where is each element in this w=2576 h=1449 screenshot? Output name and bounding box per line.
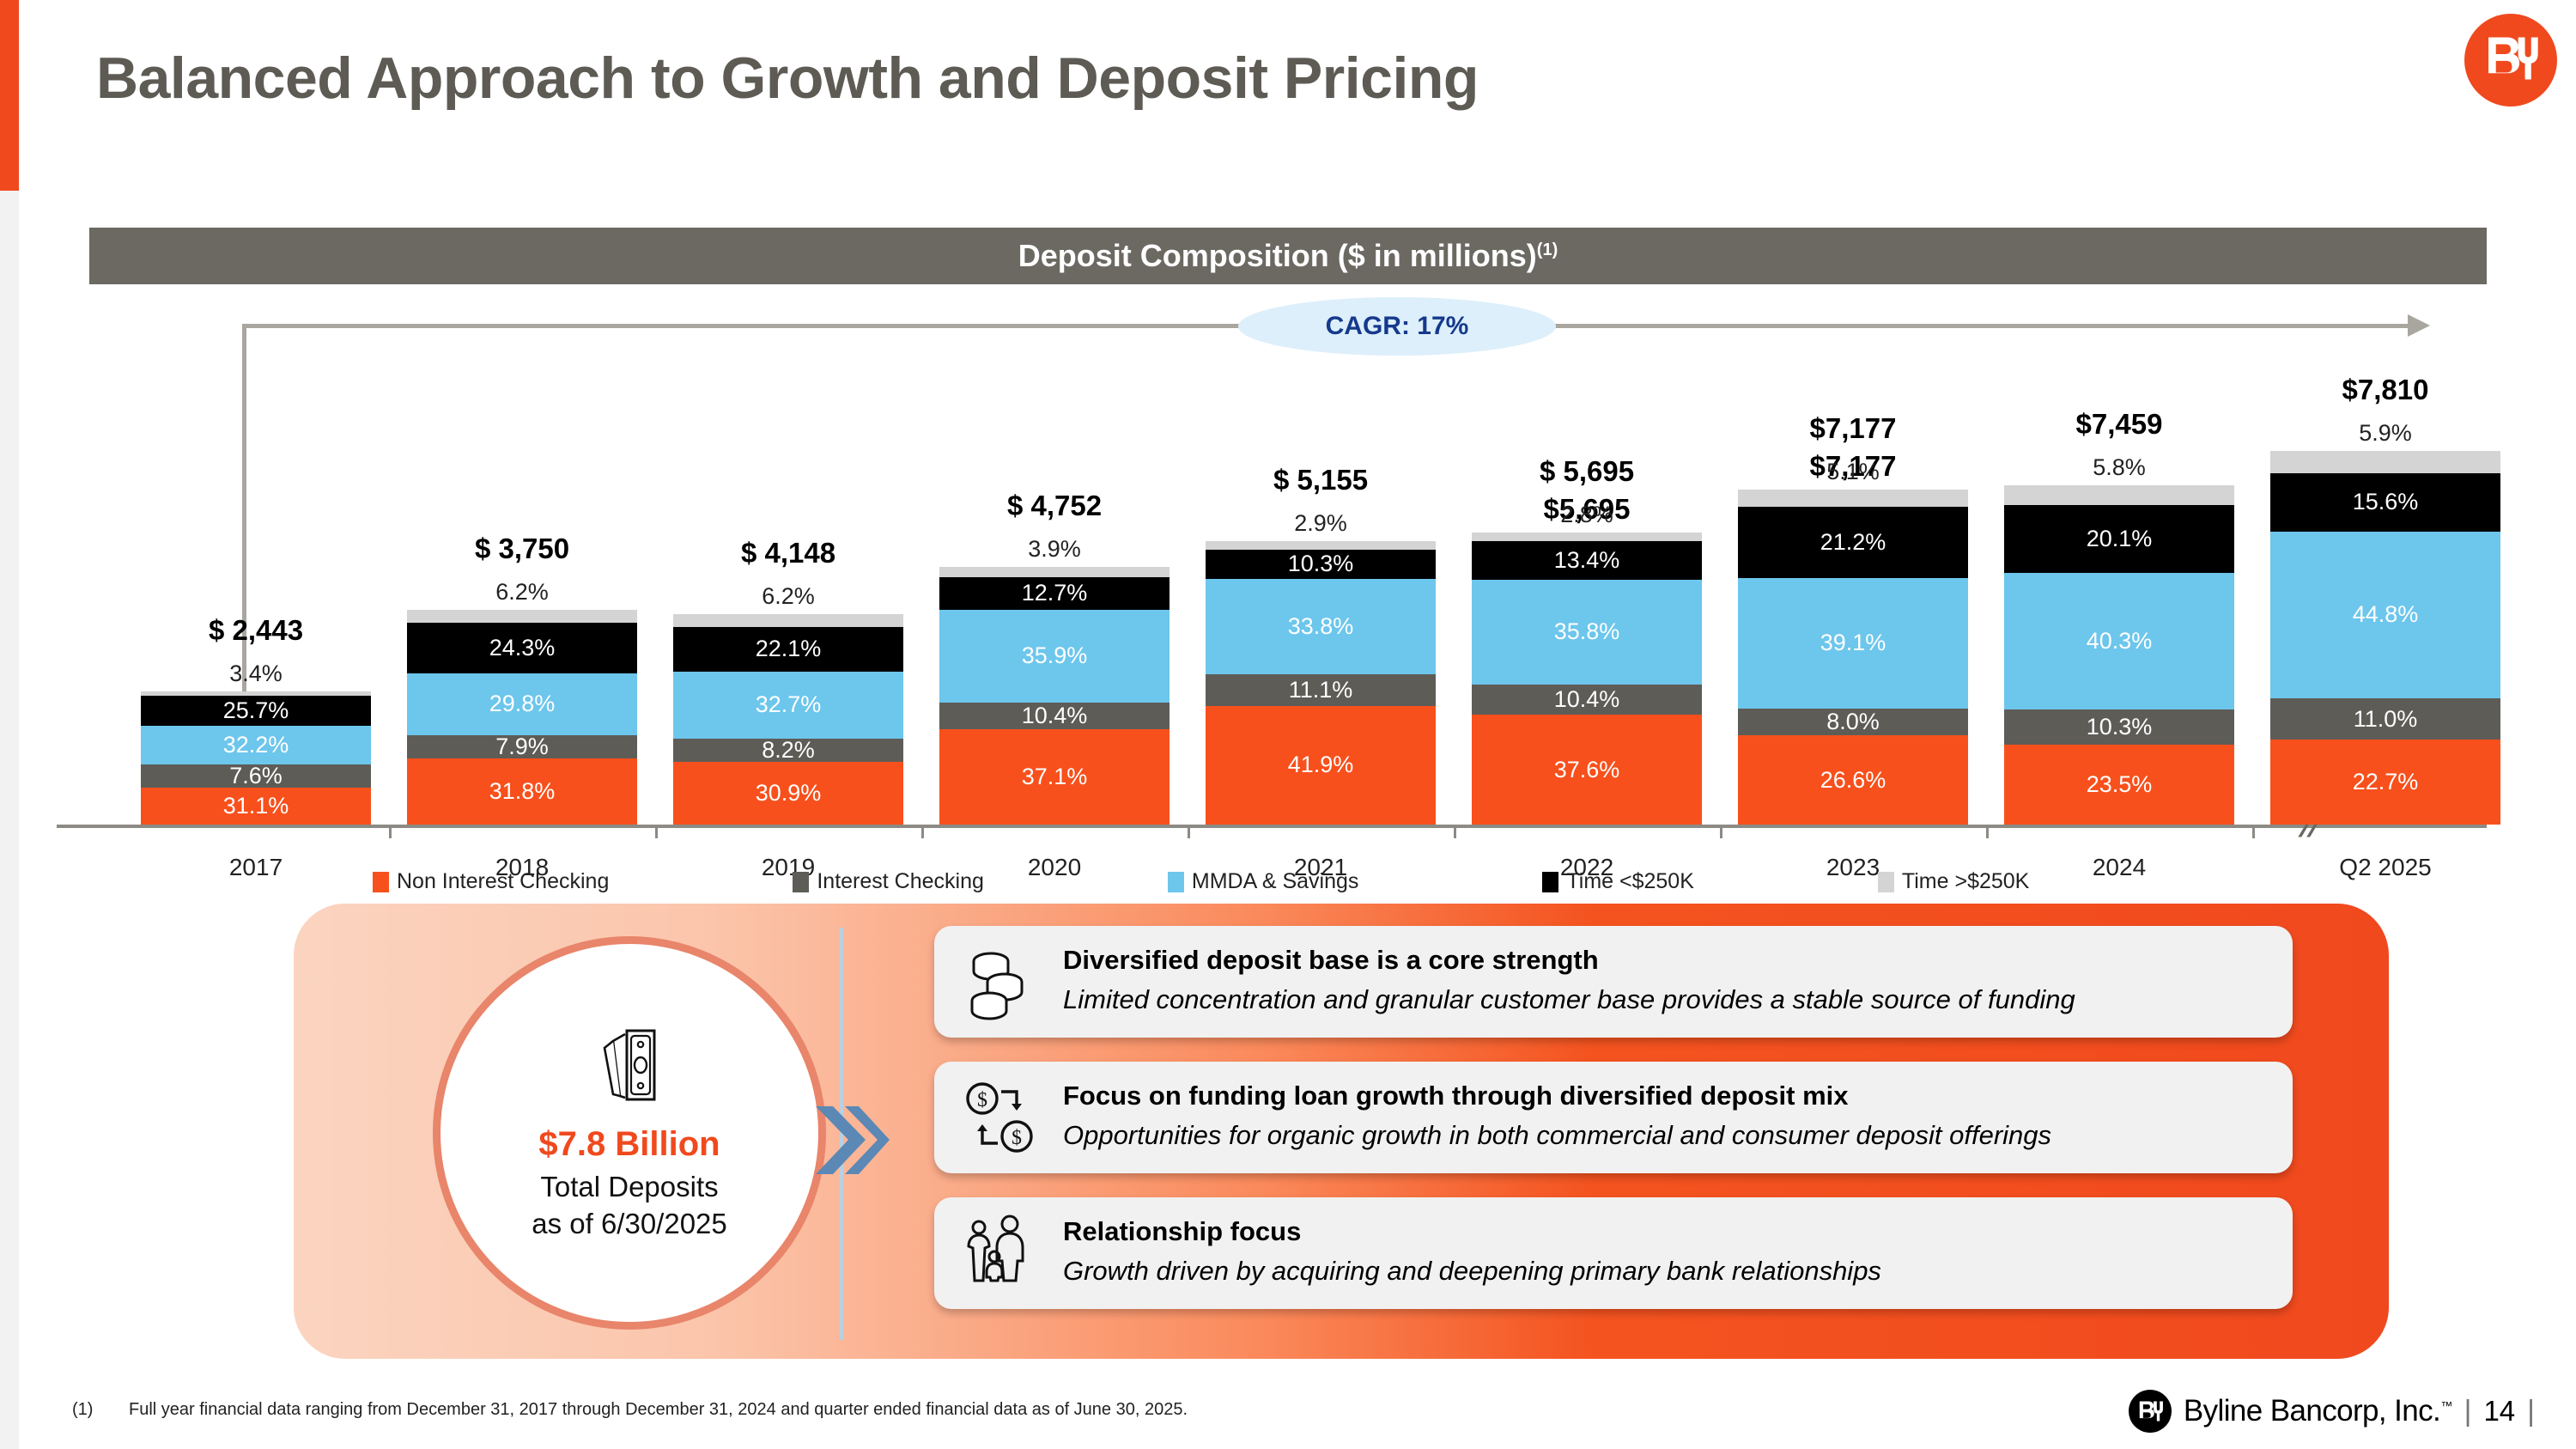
chart-column: $ 4,7523.9%12.7%35.9%10.4%37.1%2020 [939, 567, 1170, 825]
chart-panel-header: Deposit Composition ($ in millions)(1) [89, 228, 2487, 284]
cash-banknotes-icon [598, 1024, 661, 1106]
bar-segment-label: 35.8% [1554, 620, 1620, 643]
footer-company-name: Byline Bancorp, Inc.™ [2184, 1394, 2452, 1428]
bar-segment: 22.1% [673, 627, 903, 672]
highlight-card: Relationship focusGrowth driven by acqui… [934, 1197, 2293, 1309]
bar-total-label: $ 2,443 [209, 614, 303, 647]
stacked-bar: 5.8%20.1%40.3%10.3%23.5% [2004, 485, 2234, 825]
chart-panel-title-text: Deposit Composition ($ in millions) [1018, 238, 1537, 273]
bar-segment: 10.3% [1206, 550, 1436, 579]
by-monogram-icon [2129, 1390, 2172, 1433]
highlight-card: Diversified deposit base is a core stren… [934, 926, 2293, 1038]
stacked-bar: 2.9%10.3%33.8%11.1%41.9% [1206, 541, 1436, 825]
bar-segment: 32.7% [673, 672, 903, 739]
total-deposits-label: Total Deposits [540, 1169, 718, 1206]
page-number: 14 [2483, 1395, 2515, 1428]
bar-segment-label: 8.2% [762, 739, 815, 762]
bar-segment: 10.4% [1472, 685, 1702, 715]
bar-segment: 12.7% [939, 577, 1170, 610]
bar-segment-label: 5.9% [2359, 422, 2412, 445]
bar-segment-label: 23.5% [2087, 773, 2153, 796]
bar-segment-label: 13.4% [1554, 549, 1620, 572]
bar-segment-label: 11.0% [2354, 708, 2418, 731]
bar-segment: 29.8% [407, 673, 637, 735]
bar-segment: 8.0% [1738, 709, 1968, 735]
bar-segment: 31.8% [407, 758, 637, 825]
bar-total-label: $7,177 [1810, 412, 1897, 445]
stacked-bar: 3.4%25.7%32.2%7.6%31.1% [141, 691, 371, 825]
bar-segment-label: 6.2% [495, 581, 549, 604]
stacked-bar: 2.8%13.4%35.8%10.4%37.6% [1472, 533, 1702, 825]
cagr-badge: CAGR: 17% [1238, 297, 1556, 356]
family-people-icon [960, 1214, 1039, 1293]
stacked-bar: 3.9%12.7%35.9%10.4%37.1% [939, 567, 1170, 825]
left-accent-bar-orange [0, 0, 19, 191]
by-monogram-icon [2480, 27, 2542, 94]
bar-segment: 13.4% [1472, 541, 1702, 581]
chart-column: $ 2,4433.4%25.7%32.2%7.6%31.1%2017 [141, 691, 371, 825]
bar-total-label: $ 3,750 [475, 533, 569, 565]
bar-segment: 6.2% [673, 614, 903, 627]
total-deposits-amount: $7.8 Billion [538, 1125, 720, 1164]
bar-segment-label: 37.1% [1022, 765, 1088, 788]
legend-item[interactable]: Time >$250K [1878, 869, 2029, 894]
bar-segment-label: 10.4% [1022, 704, 1088, 728]
bar-segment: 32.2% [141, 726, 371, 764]
footer-trademark: ™ [2440, 1398, 2451, 1412]
bar-segment: 10.4% [939, 703, 1170, 729]
bar-segment: 7.9% [407, 735, 637, 758]
bar-segment-label: 33.8% [1288, 615, 1354, 638]
stacked-bar: 5.9%15.6%44.8%11.0%22.7% [2270, 451, 2500, 825]
legend-item[interactable]: Time <$250K [1542, 869, 1693, 894]
bar-segment: 39.1% [1738, 578, 1968, 709]
money-transfer-circular-arrows-icon: $$ [960, 1078, 1039, 1157]
chart-column: $ 5,695$5,6952.8%13.4%35.8%10.4%37.6%202… [1472, 533, 1702, 825]
corner-brand-logo [2464, 14, 2557, 107]
highlight-card-heading: Diversified deposit base is a core stren… [1063, 945, 2267, 976]
bar-segment-label: 37.6% [1554, 758, 1620, 782]
x-axis-tick [1454, 825, 1456, 838]
bar-segment: 30.9% [673, 762, 903, 825]
bar-segment-label: 2.8% [1560, 503, 1613, 527]
legend-swatch-icon [793, 872, 809, 892]
bar-segment: 2.8% [1472, 533, 1702, 541]
coins-stack-icon [960, 942, 1039, 1021]
footnote-marker: (1) [72, 1400, 129, 1420]
bar-segment: 25.7% [141, 696, 371, 727]
chart-column: $7,177$7,1775.1%21.2%39.1%8.0%26.6%2023 [1738, 490, 1968, 825]
bar-segment-label: 30.9% [756, 782, 822, 805]
legend-item[interactable]: MMDA & Savings [1168, 869, 1359, 894]
bar-segment-label: 5.1% [1826, 460, 1880, 484]
bar-segment-label: 32.7% [756, 693, 822, 716]
bar-segment: 5.9% [2270, 451, 2500, 473]
bar-segment: 37.6% [1472, 715, 1702, 825]
highlight-card-subtext: Growth driven by acquiring and deepening… [1063, 1256, 2267, 1287]
highlight-card-subtext: Opportunities for organic growth in both… [1063, 1120, 2267, 1151]
bar-segment: 23.5% [2004, 745, 2234, 825]
stacked-bar: 6.2%24.3%29.8%7.9%31.8% [407, 610, 637, 825]
bar-segment: 24.3% [407, 623, 637, 673]
bar-segment-label: 44.8% [2353, 603, 2419, 626]
footer-separator-right: | [2527, 1395, 2535, 1428]
bar-segment-label: 22.7% [2353, 770, 2419, 794]
highlight-card-heading: Focus on funding loan growth through div… [1063, 1081, 2267, 1111]
chart-panel-title-footnote-marker: (1) [1537, 240, 1558, 259]
bar-segment: 35.9% [939, 610, 1170, 703]
bar-segment: 33.8% [1206, 579, 1436, 675]
bar-segment-label: 21.2% [1820, 531, 1886, 554]
bar-segment-label: 29.8% [489, 692, 556, 715]
total-deposits-circle: $7.8 Billion Total Deposits as of 6/30/2… [433, 936, 826, 1330]
legend-label: Time >$250K [1902, 869, 2029, 894]
bar-segment: 41.9% [1206, 706, 1436, 825]
bar-segment-label: 7.9% [495, 735, 549, 758]
total-deposits-asof: as of 6/30/2025 [532, 1206, 727, 1243]
legend-item[interactable]: Non Interest Checking [373, 869, 609, 894]
chart-column: $ 5,1552.9%10.3%33.8%11.1%41.9%2021 [1206, 541, 1436, 825]
footer-company-text: Byline Bancorp, Inc. [2184, 1394, 2440, 1428]
bar-segment-label: 10.4% [1554, 688, 1620, 711]
chart-column: $7,4595.8%20.1%40.3%10.3%23.5%2024 [2004, 485, 2234, 825]
bar-segment: 5.1% [1738, 490, 1968, 507]
chart-legend: Non Interest CheckingInterest CheckingMM… [89, 869, 2487, 894]
footer-brand: Byline Bancorp, Inc.™ | 14 | [2129, 1390, 2547, 1433]
x-axis-tick [921, 825, 924, 838]
stacked-bar: 5.1%21.2%39.1%8.0%26.6% [1738, 490, 1968, 825]
chart-column: $ 3,7506.2%24.3%29.8%7.9%31.8%2018 [407, 610, 637, 825]
bar-segment-label: 15.6% [2353, 490, 2419, 514]
bar-segment: 11.0% [2270, 698, 2500, 740]
bar-segment-label: 39.1% [1820, 631, 1886, 654]
svg-text:$: $ [1012, 1127, 1022, 1149]
bar-segment-label: 7.6% [229, 764, 283, 788]
bar-segment-label: 32.2% [223, 734, 289, 757]
bar-segment-label: 5.8% [2093, 456, 2146, 479]
highlight-cards-list: Diversified deposit base is a core stren… [934, 926, 2293, 1333]
x-axis-tick [1986, 825, 1989, 838]
x-axis-tick [1188, 825, 1190, 838]
bar-total-label: $ 5,695 [1540, 455, 1634, 488]
legend-swatch-icon [1542, 872, 1558, 892]
legend-label: MMDA & Savings [1192, 869, 1359, 894]
legend-label: Time <$250K [1566, 869, 1693, 894]
bar-segment-label: 11.1% [1289, 679, 1353, 702]
legend-swatch-icon [373, 872, 389, 892]
footnote: (1)Full year financial data ranging from… [72, 1400, 1188, 1420]
cagr-badge-label: CAGR: 17% [1326, 312, 1469, 341]
double-chevron-right-icon [811, 1099, 890, 1181]
legend-label: Interest Checking [817, 869, 984, 894]
bar-segment: 2.9% [1206, 541, 1436, 550]
bar-segment-label: 24.3% [489, 636, 556, 660]
legend-label: Non Interest Checking [397, 869, 609, 894]
bar-total-label: $7,459 [2076, 408, 2163, 441]
bar-segment: 40.3% [2004, 573, 2234, 709]
x-axis-tick [655, 825, 658, 838]
bar-total-label: $ 4,752 [1007, 490, 1102, 522]
bar-segment-label: 31.8% [489, 780, 556, 803]
bar-segment: 6.2% [407, 610, 637, 623]
footer-separator-left: | [2464, 1395, 2472, 1428]
bar-segment: 15.6% [2270, 473, 2500, 532]
footnote-text: Full year financial data ranging from De… [129, 1400, 1188, 1419]
stacked-bar: 6.2%22.1%32.7%8.2%30.9% [673, 614, 903, 825]
bar-total-label: $ 4,148 [741, 537, 835, 569]
bar-segment-label: 31.1% [223, 795, 289, 818]
svg-text:$: $ [977, 1089, 987, 1111]
bar-segment-label: 3.9% [1028, 538, 1081, 561]
left-accent-bar-gray [0, 191, 19, 1449]
bar-segment-label: 6.2% [762, 585, 815, 608]
bar-segment: 31.1% [141, 788, 371, 825]
x-axis-tick [1720, 825, 1722, 838]
x-axis-tick [2252, 825, 2255, 838]
x-axis-tick [389, 825, 392, 838]
chart-panel-title: Deposit Composition ($ in millions)(1) [1018, 238, 1558, 274]
bar-segment: 26.6% [1738, 735, 1968, 825]
highlight-card-heading: Relationship focus [1063, 1216, 2267, 1247]
bar-segment-label: 22.1% [756, 637, 822, 661]
bar-segment: 21.2% [1738, 507, 1968, 578]
legend-swatch-icon [1878, 872, 1894, 892]
bar-segment-label: 20.1% [2087, 527, 2153, 551]
chart-column: $ 4,1486.2%22.1%32.7%8.2%30.9%2019 [673, 614, 903, 825]
bar-segment: 8.2% [673, 739, 903, 762]
bar-segment: 35.8% [1472, 580, 1702, 685]
bar-segment-label: 3.4% [229, 662, 283, 685]
legend-swatch-icon [1168, 872, 1184, 892]
bar-segment: 44.8% [2270, 532, 2500, 699]
bar-total-label: $7,810 [2342, 374, 2429, 406]
page-title: Balanced Approach to Growth and Deposit … [96, 45, 1479, 112]
legend-item[interactable]: Interest Checking [793, 869, 984, 894]
bar-segment-label: 25.7% [223, 699, 289, 722]
bar-segment: 20.1% [2004, 505, 2234, 573]
bar-segment-label: 2.9% [1294, 512, 1347, 535]
deposit-composition-chart: CAGR: 17% // $ 2,4433.4%25.7%32.2%7.6%31… [89, 292, 2487, 893]
bar-segment-label: 35.9% [1022, 644, 1088, 667]
bar-segment: 3.9% [939, 567, 1170, 577]
bar-segment-label: 10.3% [1288, 552, 1354, 575]
bar-segment: 7.6% [141, 764, 371, 788]
bar-segment: 22.7% [2270, 740, 2500, 825]
bar-segment: 37.1% [939, 729, 1170, 825]
bar-segment-label: 12.7% [1022, 581, 1088, 605]
highlight-card-subtext: Limited concentration and granular custo… [1063, 984, 2267, 1015]
bar-segment-label: 40.3% [2087, 630, 2153, 653]
chart-column: $7,8105.9%15.6%44.8%11.0%22.7%Q2 2025 [2270, 451, 2500, 825]
bar-total-label: $ 5,155 [1273, 464, 1368, 496]
bar-segment-label: 10.3% [2087, 715, 2153, 739]
chart-baseline-axis [57, 825, 2487, 828]
cagr-arrowhead-icon [2408, 314, 2430, 337]
bar-segment: 10.3% [2004, 709, 2234, 745]
bar-segment-label: 26.6% [1820, 769, 1886, 792]
highlight-card: $$Focus on funding loan growth through d… [934, 1062, 2293, 1173]
bar-segment-label: 41.9% [1288, 753, 1354, 776]
bar-segment: 11.1% [1206, 674, 1436, 706]
bar-segment-label: 8.0% [1826, 710, 1880, 734]
bar-segment: 5.8% [2004, 485, 2234, 505]
